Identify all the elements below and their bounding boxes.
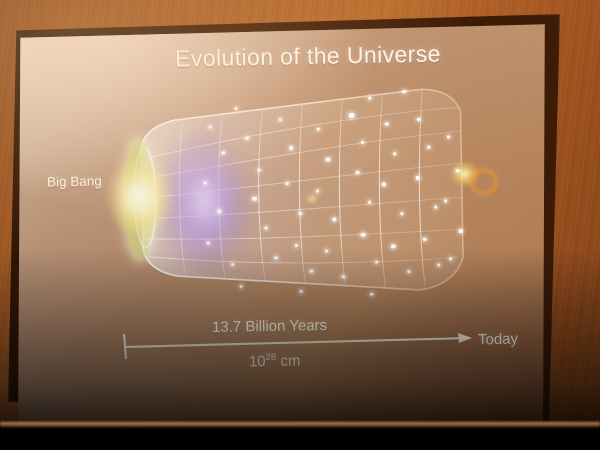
- frame-shading: [0, 0, 600, 450]
- bottom-dark-band: [0, 426, 600, 450]
- screenshot-root: Evolution of the Universe Big Bang 13.7 …: [0, 0, 600, 450]
